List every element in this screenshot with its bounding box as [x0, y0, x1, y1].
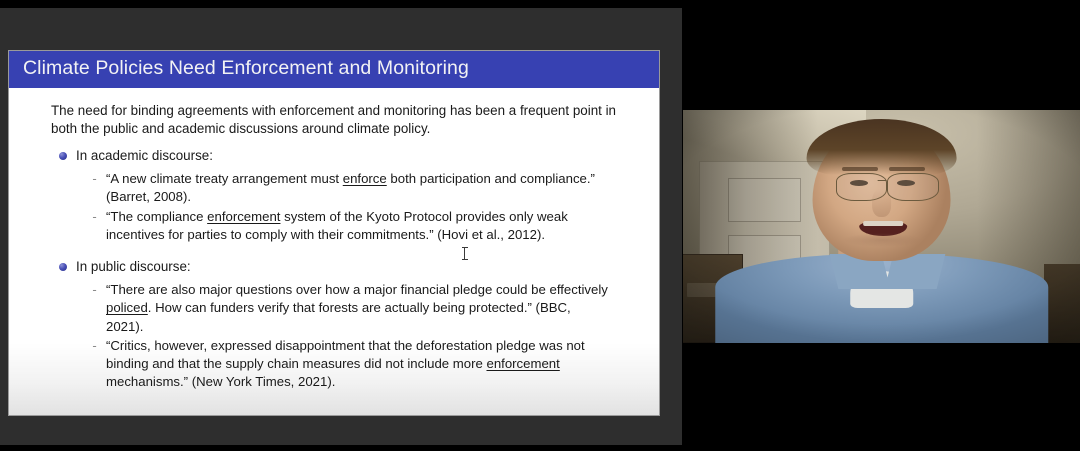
underlined-keyword: enforce [343, 171, 387, 186]
slide-title-bar: Climate Policies Need Enforcement and Mo… [9, 51, 659, 88]
bullet-heading-row: In academic discourse: [59, 147, 639, 165]
sub-bullet-item: - “There are also major questions over h… [90, 281, 639, 336]
presenter-video-feed[interactable] [683, 110, 1080, 343]
slide-title: Climate Policies Need Enforcement and Mo… [23, 57, 469, 80]
slide-intro-paragraph: The need for binding agreements with enf… [51, 102, 616, 138]
sub-bullet-text: “There are also major questions over how… [106, 281, 611, 336]
underlined-keyword: enforcement [486, 356, 559, 371]
underlined-keyword: enforcement [207, 209, 280, 224]
sub-bullet-text: “Critics, however, expressed disappointm… [106, 337, 611, 392]
sub-bullet-text: “The compliance enforcement system of th… [106, 208, 611, 245]
dash-bullet-icon: - [90, 208, 99, 226]
bullet-heading-label: In academic discourse: [76, 147, 213, 165]
sub-bullet-item: - “Critics, however, expressed disappoin… [90, 337, 639, 392]
bullet-section-public: In public discourse: - “There are also m… [59, 258, 639, 393]
bullet-heading-label: In public discourse: [76, 258, 191, 276]
slide-body: The need for binding agreements with enf… [9, 88, 659, 415]
sub-bullet-list: - “There are also major questions over h… [90, 281, 639, 392]
sub-bullet-item: - “The compliance enforcement system of … [90, 208, 639, 245]
presentation-viewer-panel: Climate Policies Need Enforcement and Mo… [0, 8, 682, 445]
sub-bullet-text: “A new climate treaty arrangement must e… [106, 170, 611, 207]
underlined-keyword: policed [106, 300, 148, 315]
sub-bullet-item: - “A new climate treaty arrangement must… [90, 170, 639, 207]
dash-bullet-icon: - [90, 337, 99, 355]
dash-bullet-icon: - [90, 281, 99, 299]
bullet-section-academic: In academic discourse: - “A new climate … [59, 147, 639, 245]
bullet-heading-row: In public discourse: [59, 258, 639, 276]
bullet-dot-icon [59, 152, 67, 160]
dash-bullet-icon: - [90, 170, 99, 188]
slide[interactable]: Climate Policies Need Enforcement and Mo… [8, 50, 660, 416]
video-vignette [683, 110, 1080, 343]
sub-bullet-list: - “A new climate treaty arrangement must… [90, 170, 639, 244]
screen-recording-frame: Climate Policies Need Enforcement and Mo… [0, 0, 1080, 451]
bullet-dot-icon [59, 263, 67, 271]
